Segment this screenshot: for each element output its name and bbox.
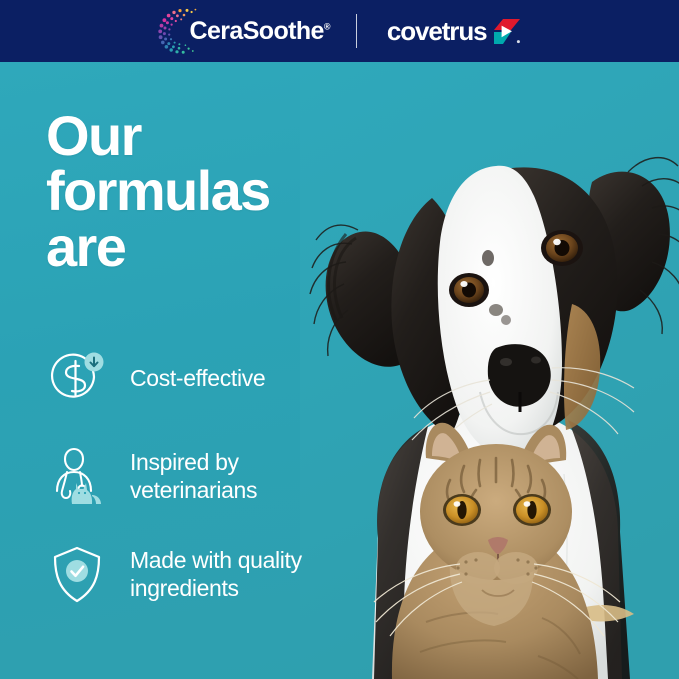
- cerasoothe-wordmark: CeraSoothe®: [190, 17, 330, 46]
- shield-check-icon: [44, 540, 110, 610]
- page-title: Our formulas are: [46, 108, 270, 274]
- product-marketing-banner: Our formulas are Cost-effective: [0, 0, 679, 679]
- feature-item-inspired-by-veterinarians: Inspired by veterinarians: [44, 442, 374, 512]
- headline-line-1: Our: [46, 108, 270, 163]
- cerasoothe-trademark: ®: [324, 21, 330, 31]
- feature-label-cost-effective: Cost-effective: [130, 365, 265, 393]
- feature-item-made-with-quality-ingredients: Made with quality ingredients: [44, 540, 374, 610]
- headline-line-3: are: [46, 219, 270, 274]
- veterinarian-with-cat-icon: [44, 442, 110, 512]
- feature-list: Cost-effective: [44, 344, 374, 638]
- covetrus-wordmark: covetrus: [387, 16, 487, 47]
- headline-line-2: formulas: [46, 163, 270, 218]
- cerasoothe-logo[interactable]: CeraSoothe®: [157, 7, 356, 55]
- covetrus-logo[interactable]: covetrus: [357, 7, 523, 55]
- brand-header-bar: CeraSoothe® covetrus: [0, 0, 679, 62]
- dollar-circle-down-arrow-icon: [44, 344, 110, 414]
- cerasoothe-name: CeraSoothe: [190, 17, 324, 45]
- feature-label-inspired-by-veterinarians: Inspired by veterinarians: [130, 449, 257, 504]
- feature-label-made-with-quality-ingredients: Made with quality ingredients: [130, 547, 302, 602]
- feature-item-cost-effective: Cost-effective: [44, 344, 374, 414]
- covetrus-diamond-mark-icon: [492, 17, 522, 47]
